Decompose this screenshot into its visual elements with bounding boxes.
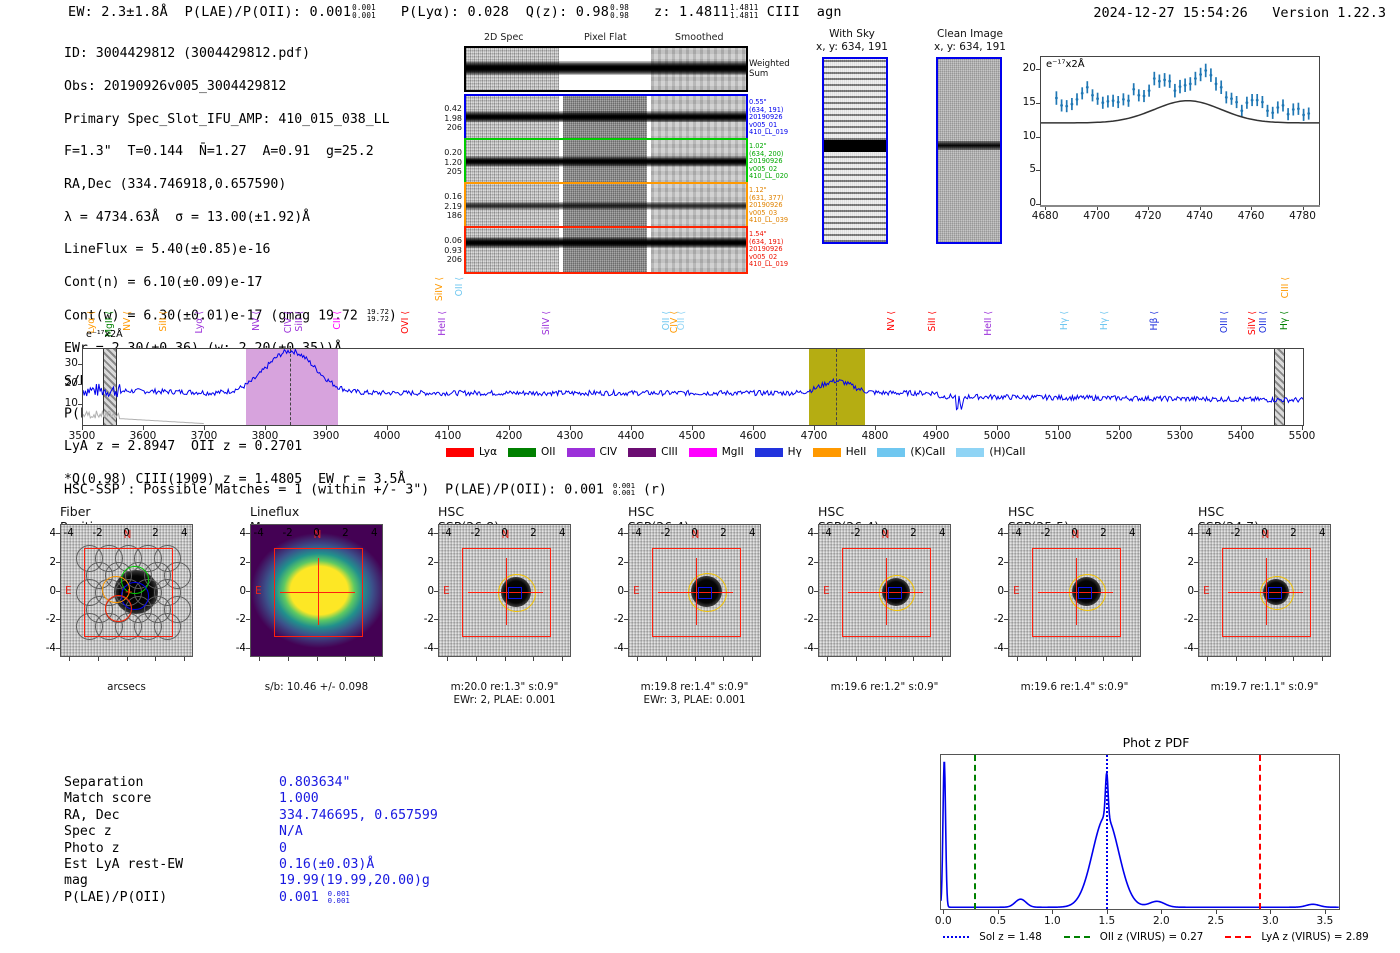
panel-ytick: -2 [614, 613, 624, 625]
spectrum-legend: LyαOIICIVCIIIMgIIHγHeII(K)CaII(H)CaII [446, 446, 1025, 458]
table-row-key: Est LyA rest-EW [64, 857, 279, 873]
panel-xtick: 0 [1261, 527, 1268, 539]
table-row: P(LAE)/P(OII)0.001 0.0010.001 [64, 890, 438, 907]
image-panel-caption: m:19.6 re:1.4" s:0.9" [998, 681, 1151, 694]
panel-xtick: -2 [470, 527, 480, 539]
legend-swatch [508, 448, 536, 457]
panel-xtick: -2 [660, 527, 670, 539]
spectrum-trace [83, 349, 1303, 425]
fov-box [842, 548, 931, 637]
spectrum-xtick: 5400 [1219, 430, 1263, 442]
photz-xtick: 1.5 [1089, 915, 1125, 927]
photz-xtick: 0.0 [925, 915, 961, 927]
spec2d-row-weighted-sum: WeightedSum [464, 46, 748, 92]
photz-legend-item: OII z (VIRUS) = 0.27 [1064, 931, 1204, 943]
line-fit-ytick: 10 [1020, 130, 1036, 142]
panel-xtick: 0 [691, 527, 698, 539]
spectrum-xtick: 5200 [1097, 430, 1141, 442]
compass-east: E [443, 585, 450, 597]
spectrum-line-marker: Hβ ⟨ [1149, 311, 1160, 331]
spectrum-line-marker: NV ⟨ [122, 311, 133, 331]
spectrum-xtick: 5300 [1158, 430, 1202, 442]
legend-item: CIV [567, 446, 618, 458]
photz-xtick: 2.0 [1143, 915, 1179, 927]
table-row-key: mag [64, 873, 279, 889]
photz-xtick: 3.5 [1307, 915, 1343, 927]
spectrum-line-labels: Lyα ⟨MgII ⟨NV ⟨SiII ⟨Lyα ⟨NV ⟨CIV ⟨SiII … [82, 275, 1304, 348]
spectrum-line-marker: OVI ⟨ [400, 311, 411, 334]
table-row: RA, Dec334.746695, 0.657599 [64, 808, 438, 824]
line-fit-chart: e⁻¹⁷x2Å 05101520 46804700472047404760478… [1040, 56, 1360, 236]
photz-legend-swatch [1064, 936, 1090, 938]
table-row-key: P(LAE)/P(OII) [64, 890, 279, 906]
panel-xtick: 0 [313, 527, 320, 539]
spectrum-line-marker: NV ⟨ [251, 311, 262, 331]
spectrum-xtick: 3500 [60, 430, 104, 442]
spectrum-ytick: 20 [56, 377, 78, 389]
cleanimage-title: Clean Image x, y: 634, 191 [920, 28, 1020, 53]
spectrum-xtick: 4400 [609, 430, 653, 442]
spectrum-line-marker: Hγ ⟨ [1059, 311, 1070, 330]
image-panel-caption: s/b: 10.46 +/- 0.098 [240, 681, 393, 694]
spectrum-xtick: 3600 [121, 430, 165, 442]
fov-box [1222, 548, 1311, 637]
table-row: Spec zN/A [64, 824, 438, 840]
photz-marker-line [1259, 755, 1262, 909]
table-row-value: 1.000 [279, 791, 319, 806]
info-line-slot: Primary Spec_Slot_IFU_AMP: 410_015_038_L… [64, 112, 405, 128]
legend-swatch [755, 448, 783, 457]
photz-xtick: 2.5 [1198, 915, 1234, 927]
line-fit-xtick: 4680 [1028, 210, 1062, 222]
panel-xtick: 4 [559, 527, 566, 539]
line-fit-ytick: 15 [1020, 96, 1036, 108]
compass-east: E [255, 585, 262, 597]
line-fit-xtick: 4780 [1286, 210, 1320, 222]
line-fit-ytick: 5 [1020, 163, 1036, 175]
spectrum-line-marker: SiII ⟨ [158, 311, 169, 332]
withsky-title-text: With Sky [829, 28, 875, 40]
table-row-key: RA, Dec [64, 808, 279, 824]
info-line-redshifts: LyA z = 2.8947 OII z = 0.2701 [64, 439, 405, 455]
spec2d-row-2: 0.201.20205 1.02"(634, 200)20190926v005_… [464, 138, 748, 186]
table-row-key: Photo z [64, 841, 279, 857]
spectrum-axes: e⁻¹⁷x2Å [82, 348, 1304, 426]
spec2d-row-3: 0.162.19186 1.12"(631, 377)20190926v005_… [464, 182, 748, 230]
compass-east: E [823, 585, 830, 597]
hsc-header: HSC-SSP : Possible Matches = 1 (within +… [64, 482, 667, 497]
fov-box [462, 548, 551, 637]
image-panel-caption: m:19.8 re:1.4" s:0.9"EWr: 3, PLAE: 0.001 [618, 681, 771, 707]
compass-east: E [1013, 585, 1020, 597]
fov-box [652, 548, 741, 637]
panel-xtick: 2 [342, 527, 349, 539]
panel-xtick: 2 [1290, 527, 1297, 539]
withsky-title: With Sky x, y: 634, 191 [808, 28, 896, 53]
spec2d-row-4-left-stats: 0.060.93206 [444, 236, 462, 265]
panel-ytick: -2 [424, 613, 434, 625]
photz-title: Phot z PDF [930, 735, 1382, 750]
photz-legend-item: LyA z (VIRUS) = 2.89 [1225, 931, 1368, 943]
line-fit-xtick: 4700 [1080, 210, 1114, 222]
spectrum-line-marker: Hγ ⟨ [1099, 311, 1110, 330]
spectrum-xtick: 4600 [731, 430, 775, 442]
panel-xtick: 2 [910, 527, 917, 539]
legend-item: (K)CaII [877, 446, 945, 458]
panel-ytick: -4 [994, 642, 1004, 654]
spectrum-xtick: 3700 [182, 430, 226, 442]
header-summary: EW: 2.3±1.8Å P(LAE)/P(OII): 0.0010.0010.… [68, 4, 842, 20]
photz-xtick: 0.5 [980, 915, 1016, 927]
image-panel-caption: m:19.7 re:1.1" s:0.9" [1188, 681, 1341, 694]
spectrum-xtick: 4000 [365, 430, 409, 442]
panel-ytick: -4 [804, 642, 814, 654]
spectrum-line-marker: SiIV ⟨ [434, 277, 445, 301]
cleanimage-title-text: Clean Image [937, 28, 1003, 40]
spectrum-xtick: 5000 [975, 430, 1019, 442]
panel-ytick: -2 [994, 613, 1004, 625]
spec2d-image-smoothed [651, 48, 746, 90]
table-row-value: 334.746695, 0.657599 [279, 808, 438, 823]
table-row: Est LyA rest-EW0.16(±0.03)Å [64, 857, 438, 873]
table-row-key: Spec z [64, 824, 279, 840]
image-panel-axes: NE [438, 524, 571, 657]
line-fit-xtick: 4720 [1131, 210, 1165, 222]
spectrum-line-marker: SiIV ⟨ [541, 311, 552, 335]
legend-swatch [813, 448, 841, 457]
info-line-params: F=1.3" T=0.144 N̄=1.27 A=0.91 g=25.2 [64, 144, 405, 160]
info-line-lineflux: LineFlux = 5.40(±0.85)e-16 [64, 242, 405, 258]
table-row-value: 19.99(19.99,20.00)g [279, 873, 430, 888]
compass-east: E [633, 585, 640, 597]
photz-plot [941, 755, 1339, 909]
spectrum-line-marker: Lyα ⟨ [194, 311, 205, 334]
withsky-image [822, 57, 888, 244]
panel-xtick: -4 [632, 527, 642, 539]
spec2d-row-4: 0.060.93206 1.54"(634, 191)20190926v005_… [464, 226, 748, 274]
panel-ytick: -2 [804, 613, 814, 625]
info-line-id: ID: 3004429812 (3004429812.pdf) [64, 46, 405, 62]
spectrum-line-marker: HeII ⟨ [437, 311, 448, 336]
photz-legend-swatch [1225, 936, 1251, 938]
panel-xtick: 2 [720, 527, 727, 539]
compass-east: E [65, 585, 72, 597]
table-row: Match score1.000 [64, 791, 438, 807]
photz-legend-label: LyA z (VIRUS) = 2.89 [1261, 931, 1368, 943]
spectrum-line-marker: CII ⟨ [332, 311, 343, 330]
panel-ytick: -4 [1184, 642, 1194, 654]
spec2d-row-2-right-info: 1.02"(634, 200)20190926v005_02410_LL_020 [749, 143, 788, 181]
line-fit-axes: e⁻¹⁷x2Å [1040, 56, 1320, 206]
timestamp-text: 2024-12-27 15:54:26 [1093, 5, 1247, 21]
spectrum-annotation: e⁻¹⁷x2Å [86, 329, 123, 340]
panel-xtick: -4 [1202, 527, 1212, 539]
photz-axes [940, 754, 1340, 910]
spectrum-ytick: 10 [56, 397, 78, 409]
photz-legend-swatch [943, 936, 969, 938]
table-row-value: 0.803634" [279, 775, 350, 790]
line-fit-xtick: 4760 [1234, 210, 1268, 222]
photz-marker-line [1106, 755, 1109, 909]
image-panel-axes: NE [628, 524, 761, 657]
cleanimage-image [936, 57, 1002, 244]
spec2d-weighted-sum-label: WeightedSum [749, 59, 790, 79]
legend-swatch [877, 448, 905, 457]
panel-xtick: -4 [64, 527, 74, 539]
table-row-value: 0.16(±0.03)Å [279, 857, 374, 872]
legend-item: HeII [813, 446, 867, 458]
panel-ytick: -2 [1184, 613, 1194, 625]
spectrum-ytick: 30 [56, 357, 78, 369]
legend-label: (K)CaII [910, 446, 945, 458]
panel-xtick: 2 [1100, 527, 1107, 539]
table-row-value: 0 [279, 841, 287, 856]
legend-label: CIV [600, 446, 618, 458]
photz-xtick: 3.0 [1252, 915, 1288, 927]
legend-item: Hγ [755, 446, 802, 458]
photz-legend-item: Sol z = 1.48 [943, 931, 1041, 943]
panel-ytick: -2 [236, 613, 246, 625]
spectrum-line-marker: CIV ⟨ [283, 311, 294, 333]
spec2d-row-3-left-stats: 0.162.19186 [444, 192, 462, 221]
spec2d-row-1-right-info: 0.55"(634, 191)20190926v005_01410_LL_019 [749, 99, 788, 137]
spectrum-line-marker: Hγ ⟨ [1279, 311, 1290, 330]
cleanimage-coords: x, y: 634, 191 [934, 41, 1006, 53]
spectrum-xtick: 4200 [487, 430, 531, 442]
info-line-radec: RA,Dec (334.746918,0.657590) [64, 177, 405, 193]
spectrum-chart: e⁻¹⁷x2Å 102030 3500360037003800390040004… [82, 348, 1304, 426]
spec2d-row-2-left-stats: 0.201.20205 [444, 148, 462, 177]
line-fit-xtick: 4740 [1183, 210, 1217, 222]
legend-label: Hγ [788, 446, 802, 458]
line-fit-ytick: 20 [1020, 62, 1036, 74]
panel-xtick: 4 [181, 527, 188, 539]
version-text: Version 1.22.3 [1272, 5, 1386, 21]
panel-xtick: 4 [1129, 527, 1136, 539]
legend-swatch [689, 448, 717, 457]
line-fit-ytick: 0 [1020, 197, 1036, 209]
table-row: Photo z0 [64, 841, 438, 857]
spec2d-row-3-right-info: 1.12"(631, 377)20190926v005_03410_LL_039 [749, 187, 788, 225]
photz-legend-label: OII z (VIRUS) = 0.27 [1100, 931, 1204, 943]
spectrum-line-marker: CIII ⟨ [1280, 277, 1291, 298]
image-panel-axes: NE [1008, 524, 1141, 657]
spectrum-xtick: 4500 [670, 430, 714, 442]
panel-xtick: -2 [1040, 527, 1050, 539]
spectrum-xtick: 4700 [792, 430, 836, 442]
panel-xtick: 0 [123, 527, 130, 539]
spectrum-line-marker: OII ⟨ [676, 311, 687, 330]
panel-xtick: -2 [850, 527, 860, 539]
photz-chart: Phot z PDF 0.00.51.01.52.02.53.03.5 Sol … [930, 735, 1382, 947]
panel-xtick: 2 [530, 527, 537, 539]
line-fit-plot [1041, 57, 1319, 205]
spectrum-line-marker: OII ⟨ [454, 277, 465, 296]
panel-xtick: 4 [939, 527, 946, 539]
panel-ytick: -4 [614, 642, 624, 654]
image-panel-axes: NE [818, 524, 951, 657]
fov-box [1032, 548, 1121, 637]
panel-xtick: -4 [442, 527, 452, 539]
panel-ytick: -2 [46, 613, 56, 625]
spectrum-line-marker: SiIV ⟨ [1247, 311, 1258, 335]
spectrum-xtick: 4900 [914, 430, 958, 442]
table-row: mag19.99(19.99,20.00)g [64, 873, 438, 889]
legend-swatch [446, 448, 474, 457]
spec2d-col-title-smoothed: Smoothed [675, 32, 724, 43]
legend-item: (H)CaII [956, 446, 1025, 458]
legend-label: CIII [661, 446, 678, 458]
image-panel-axes: +NE [60, 524, 193, 657]
panel-ytick: -4 [46, 642, 56, 654]
info-line-obs: Obs: 20190926v005_3004429812 [64, 79, 405, 95]
panel-xtick: 0 [501, 527, 508, 539]
legend-item: MgII [689, 446, 744, 458]
spectrum-xtick: 4100 [426, 430, 470, 442]
spectrum-line-marker: OIII ⟨ [1258, 311, 1269, 333]
header-timestamp: 2024-12-27 15:54:26 Version 1.22.3 [1093, 5, 1386, 21]
image-panel-caption: m:19.6 re:1.2" s:0.9" [808, 681, 961, 694]
info-line-wavelength: λ = 4734.63Å σ = 13.00(±1.92)Å [64, 210, 405, 226]
spectrum-line-marker: OIII ⟨ [1219, 311, 1230, 333]
spectrum-xtick: 3900 [304, 430, 348, 442]
spec2d-row-1-left-stats: 0.421.98206 [444, 104, 462, 133]
image-panel-axes: NE [1198, 524, 1331, 657]
withsky-coords: x, y: 634, 191 [816, 41, 888, 53]
panel-xtick: -4 [254, 527, 264, 539]
match-details-table: Separation0.803634"Match score1.000RA, D… [64, 775, 438, 907]
image-panel-caption: m:20.0 re:1.3" s:0.9"EWr: 2, PLAE: 0.001 [428, 681, 581, 707]
image-panel-caption: arcsecs [50, 681, 203, 694]
photz-marker-line [974, 755, 977, 909]
compass-east: E [1203, 585, 1210, 597]
spectrum-line-marker: SiII ⟨ [927, 311, 938, 332]
table-row-key: Separation [64, 775, 279, 791]
spectrum-xtick: 5500 [1280, 430, 1324, 442]
panel-xtick: 0 [881, 527, 888, 539]
panel-xtick: -2 [92, 527, 102, 539]
table-row-key: Match score [64, 791, 279, 807]
panel-xtick: 4 [371, 527, 378, 539]
spectrum-line-marker: NV ⟨ [886, 311, 897, 331]
fov-box [274, 548, 363, 637]
legend-swatch [567, 448, 595, 457]
legend-label: OII [541, 446, 555, 458]
legend-swatch [956, 448, 984, 457]
panel-xtick: -4 [822, 527, 832, 539]
fov-box [84, 548, 173, 637]
legend-swatch [628, 448, 656, 457]
spec2d-col-title-pixelflat: Pixel Flat [584, 32, 627, 43]
panel-xtick: 4 [1319, 527, 1326, 539]
legend-label: Lyα [479, 446, 497, 458]
legend-label: (H)CaII [989, 446, 1025, 458]
panel-xtick: 0 [1071, 527, 1078, 539]
spec2d-row-4-right-info: 1.54"(634, 191)20190926v005_02410_LL_019 [749, 231, 788, 269]
panel-ytick: -4 [424, 642, 434, 654]
spec2d-col-title-2dspec: 2D Spec [484, 32, 524, 43]
panel-xtick: 4 [749, 527, 756, 539]
spec2d-row-1: 0.421.98206 0.55"(634, 191)20190926v005_… [464, 94, 748, 142]
spectrum-line-marker: SiII ⟨ [294, 311, 305, 332]
spec2d-group: 2D Spec Pixel Flat Smoothed WeightedSum … [432, 32, 762, 260]
panel-xtick: -4 [1012, 527, 1022, 539]
spectrum-xtick: 4300 [548, 430, 592, 442]
photz-legend: Sol z = 1.48OII z (VIRUS) = 0.27LyA z (V… [930, 931, 1382, 943]
table-row-value: 0.001 0.0010.001 [279, 890, 350, 905]
photz-xtick: 1.0 [1034, 915, 1070, 927]
panel-xtick: -2 [282, 527, 292, 539]
spectrum-xtick: 4800 [853, 430, 897, 442]
table-row: Separation0.803634" [64, 775, 438, 791]
panel-xtick: -2 [1230, 527, 1240, 539]
legend-item: CIII [628, 446, 678, 458]
object-info-block: ID: 3004429812 (3004429812.pdf) Obs: 201… [64, 30, 405, 505]
spectrum-line-marker: HeII ⟨ [983, 311, 994, 336]
spectrum-xtick: 3800 [243, 430, 287, 442]
legend-item: OII [508, 446, 555, 458]
legend-item: Lyα [446, 446, 497, 458]
spectrum-xtick: 5100 [1036, 430, 1080, 442]
table-row-value: N/A [279, 824, 303, 839]
panel-ytick: -4 [236, 642, 246, 654]
photz-legend-label: Sol z = 1.48 [979, 931, 1041, 943]
image-panel-axes: NE [250, 524, 383, 657]
legend-label: HeII [846, 446, 867, 458]
legend-label: MgII [722, 446, 744, 458]
panel-xtick: 2 [152, 527, 159, 539]
